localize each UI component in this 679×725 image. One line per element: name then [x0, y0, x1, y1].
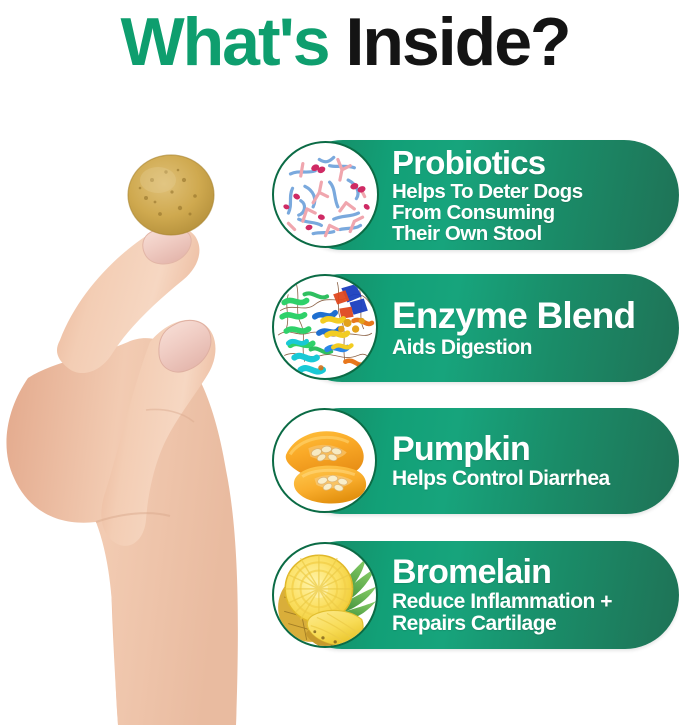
page-title: What's Inside?: [30, 2, 660, 82]
ingredient-title: Enzyme Blend: [392, 297, 665, 334]
subtitle-line: Their Own Stool: [392, 223, 665, 244]
subtitle-line: Repairs Cartilage: [392, 613, 665, 635]
ingredient-text-probiotics: Probiotics Helps To Deter Dogs From Cons…: [392, 140, 665, 250]
page-title-green: What's: [120, 4, 328, 80]
ingredient-card-bromelain[interactable]: Bromelain Reduce Inflammation + Repairs …: [288, 541, 679, 649]
ingredient-subtitle: Reduce Inflammation + Repairs Cartilage: [392, 591, 665, 635]
ingredient-title: Pumpkin: [392, 432, 665, 466]
ingredient-card-pumpkin[interactable]: Pumpkin Helps Control Diarrhea: [288, 408, 679, 514]
infographic-canvas: What's Inside?: [0, 0, 679, 725]
subtitle-line: Helps To Deter Dogs: [392, 181, 665, 202]
ingredient-card-enzyme-blend[interactable]: Enzyme Blend Aids Digestion: [288, 274, 679, 382]
protein-structure-icon: [272, 274, 378, 380]
chew-treat: [128, 155, 214, 235]
subtitle-line: Reduce Inflammation +: [392, 591, 665, 613]
hand-holding-chew: [0, 110, 258, 725]
ingredient-title: Probiotics: [392, 146, 665, 179]
ingredient-subtitle: Aids Digestion: [392, 337, 665, 359]
subtitle-line: Aids Digestion: [392, 337, 665, 359]
ingredient-text-pumpkin: Pumpkin Helps Control Diarrhea: [392, 408, 665, 514]
pumpkin-icon: [272, 408, 377, 513]
bacteria-icon: [272, 141, 379, 248]
ingredient-subtitle: Helps To Deter Dogs From Consuming Their…: [392, 181, 665, 245]
pineapple-icon: [272, 542, 378, 648]
subtitle-line: Helps Control Diarrhea: [392, 468, 665, 490]
ingredient-text-enzyme-blend: Enzyme Blend Aids Digestion: [392, 274, 665, 382]
ingredient-card-probiotics[interactable]: Probiotics Helps To Deter Dogs From Cons…: [288, 140, 679, 250]
ingredient-title: Bromelain: [392, 555, 665, 589]
page-title-black: Inside?: [346, 4, 570, 80]
ingredient-subtitle: Helps Control Diarrhea: [392, 468, 665, 490]
ingredient-text-bromelain: Bromelain Reduce Inflammation + Repairs …: [392, 541, 665, 649]
subtitle-line: From Consuming: [392, 202, 665, 223]
